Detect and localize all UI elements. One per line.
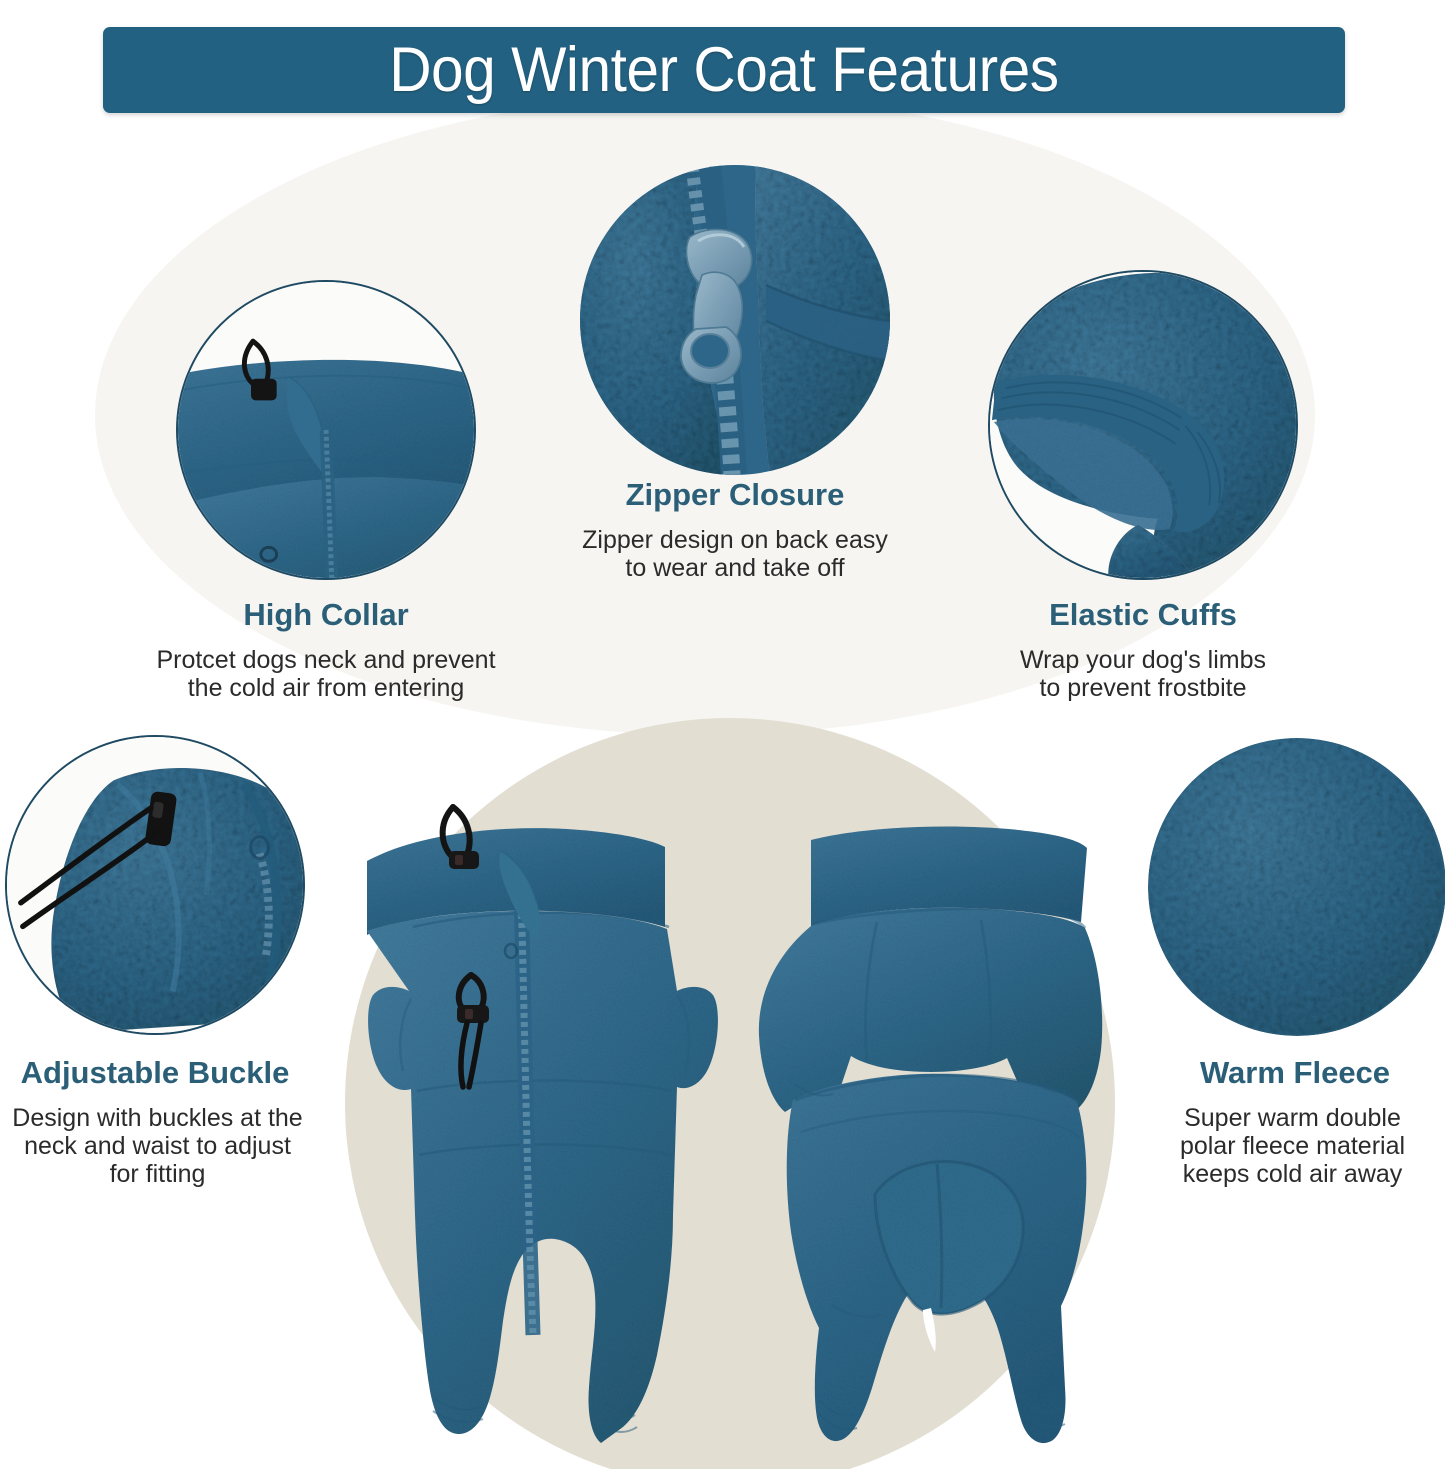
dog-coat-back-view xyxy=(735,800,1125,1460)
warm-fleece-desc-line2: polar fleece material xyxy=(1140,1132,1445,1161)
warm-fleece-desc-line3: keeps cold air away xyxy=(1140,1160,1445,1189)
page-title: Dog Winter Coat Features xyxy=(389,39,1058,102)
warm-fleece-circle xyxy=(1148,738,1445,1036)
warm-fleece-title: Warm Fleece xyxy=(1145,1056,1445,1091)
page-header-banner: Dog Winter Coat Features xyxy=(103,27,1345,113)
warm-fleece-desc-line1: Super warm double xyxy=(1140,1104,1445,1133)
warm-fleece-photo xyxy=(1148,738,1445,1036)
dog-coat-front-view xyxy=(305,795,725,1455)
